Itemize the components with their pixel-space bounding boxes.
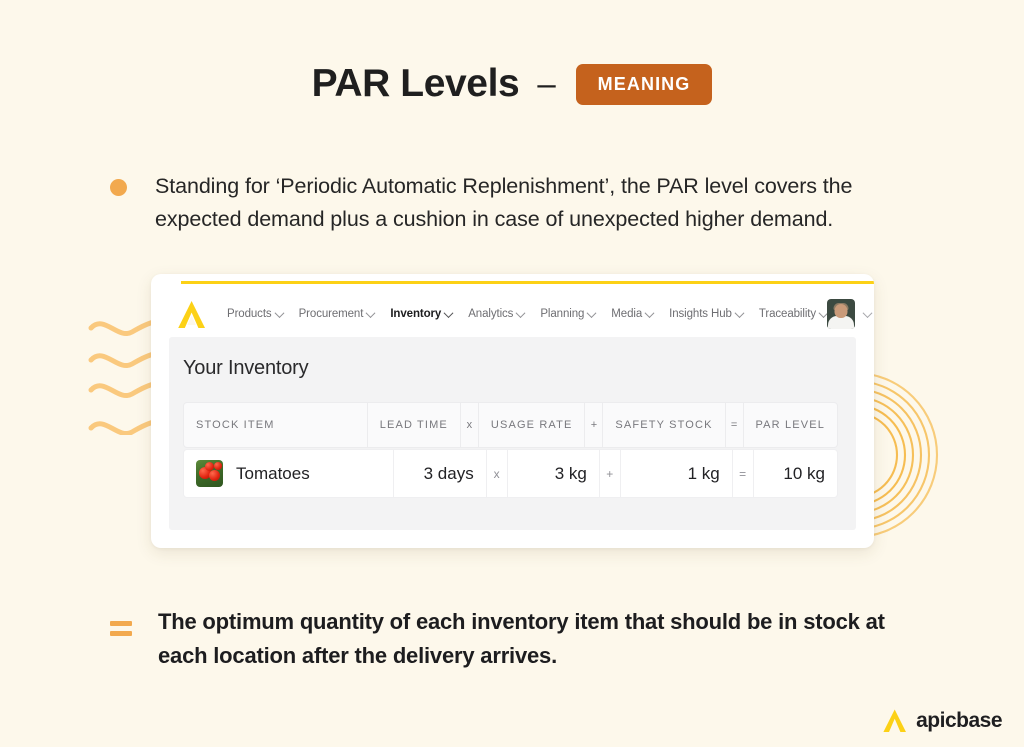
chevron-down-icon[interactable]: [863, 308, 873, 318]
bullet-dot-icon: [110, 179, 127, 196]
outro-block: The optimum quantity of each inventory i…: [110, 605, 940, 673]
header-operator-plus: +: [585, 402, 603, 448]
nav-item-planning[interactable]: Planning: [540, 308, 595, 320]
nav-item-procurement[interactable]: Procurement: [299, 308, 375, 320]
app-nav-items: Products Procurement Inventory Analytics…: [227, 308, 827, 320]
chevron-down-icon: [734, 308, 744, 318]
tomato-icon: [196, 460, 223, 487]
nav-item-label: Analytics: [468, 308, 513, 320]
equals-marker-icon: [110, 621, 132, 673]
table-header-row: STOCK ITEM LEAD TIME x USAGE RATE + SAFE…: [183, 402, 838, 448]
intro-text: Standing for ‘Periodic Automatic Repleni…: [155, 170, 915, 236]
chevron-down-icon: [645, 308, 655, 318]
panel-title: Your Inventory: [169, 337, 856, 380]
stock-item-label: Tomatoes: [236, 464, 310, 484]
nav-item-label: Planning: [540, 308, 584, 320]
chevron-down-icon: [587, 308, 597, 318]
meaning-badge: MEANING: [576, 64, 713, 105]
cell-operator-multiply: x: [487, 449, 508, 498]
nav-item-inventory[interactable]: Inventory: [390, 308, 452, 320]
cell-safety-stock: 1 kg: [621, 449, 733, 498]
page-title-row: PAR Levels – MEANING: [0, 62, 1024, 106]
apicbase-logo-icon: [882, 708, 908, 733]
cell-stock-item: Tomatoes: [183, 449, 394, 498]
header-par-level: PAR LEVEL: [744, 402, 838, 448]
chevron-down-icon: [516, 308, 526, 318]
inventory-panel: Your Inventory STOCK ITEM LEAD TIME x US…: [169, 337, 856, 530]
nav-item-label: Products: [227, 308, 272, 320]
nav-item-insights-hub[interactable]: Insights Hub: [669, 308, 743, 320]
nav-item-label: Insights Hub: [669, 308, 732, 320]
nav-item-analytics[interactable]: Analytics: [468, 308, 524, 320]
cell-lead-time: 3 days: [394, 449, 486, 498]
cell-operator-plus: +: [600, 449, 621, 498]
inventory-table: STOCK ITEM LEAD TIME x USAGE RATE + SAFE…: [183, 402, 838, 498]
chevron-down-icon: [274, 308, 284, 318]
header-safety-stock: SAFETY STOCK: [603, 402, 725, 448]
cell-par-level: 10 kg: [754, 449, 838, 498]
header-operator-equals: =: [726, 402, 744, 448]
cell-operator-equals: =: [733, 449, 754, 498]
app-navbar: Products Procurement Inventory Analytics…: [151, 284, 874, 344]
cell-usage-rate: 3 kg: [508, 449, 600, 498]
app-screenshot-card: Products Procurement Inventory Analytics…: [151, 274, 874, 548]
nav-item-media[interactable]: Media: [611, 308, 653, 320]
header-operator-multiply: x: [461, 402, 479, 448]
brand-name: apicbase: [916, 709, 1002, 733]
table-row[interactable]: Tomatoes 3 days x 3 kg + 1 kg = 10 kg: [183, 449, 838, 498]
nav-item-label: Traceability: [759, 308, 816, 320]
header-stock-item: STOCK ITEM: [183, 402, 368, 448]
chevron-down-icon: [444, 308, 454, 318]
nav-item-products[interactable]: Products: [227, 308, 283, 320]
header-lead-time: LEAD TIME: [368, 402, 461, 448]
header-usage-rate: USAGE RATE: [479, 402, 586, 448]
avatar-head: [835, 304, 848, 318]
page-title: PAR Levels: [312, 62, 520, 106]
nav-item-label: Media: [611, 308, 642, 320]
nav-item-label: Inventory: [390, 308, 441, 320]
nav-item-label: Procurement: [299, 308, 364, 320]
outro-text: The optimum quantity of each inventory i…: [158, 605, 898, 673]
chevron-down-icon: [366, 308, 376, 318]
intro-block: Standing for ‘Periodic Automatic Repleni…: [110, 170, 940, 236]
apicbase-logo-icon[interactable]: [175, 298, 209, 330]
avatar[interactable]: [827, 299, 855, 329]
app-nav-right: [827, 299, 871, 329]
nav-item-traceability[interactable]: Traceability: [759, 308, 827, 320]
title-dash: –: [537, 65, 555, 103]
footer-brand: apicbase: [882, 708, 1002, 733]
